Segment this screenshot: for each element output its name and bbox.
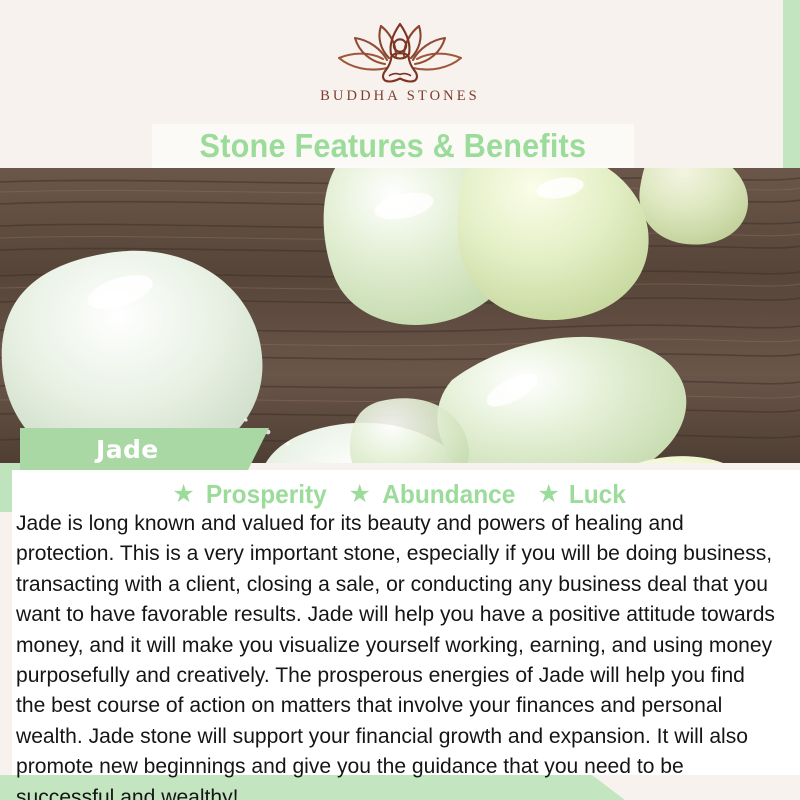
poster-root: BUDDHA STONES Stone Features & Benefits	[0, 0, 800, 800]
stone-photo	[0, 168, 800, 463]
benefit-item: ★ Prosperity	[172, 479, 330, 510]
stone-photo-illustration	[0, 168, 800, 463]
benefit-label: Abundance	[382, 479, 515, 510]
star-icon: ★	[172, 482, 194, 507]
benefit-label: Prosperity	[206, 479, 327, 510]
brand-logo: BUDDHA STONES	[0, 18, 800, 105]
star-icon: ★	[348, 482, 370, 507]
benefits-row: ★ Prosperity ★ Abundance ★ Luck	[0, 478, 800, 510]
header-title-band: Stone Features & Benefits	[152, 124, 634, 168]
chip-angled-corner	[248, 428, 269, 470]
star-icon: ★	[537, 482, 559, 507]
page-title: Stone Features & Benefits	[200, 127, 587, 165]
benefit-item: ★ Luck	[537, 479, 627, 510]
benefit-label: Luck	[569, 479, 626, 510]
stone-description: Jade is long known and valued for its be…	[16, 508, 776, 800]
brand-wordmark: BUDDHA STONES	[320, 88, 480, 105]
benefit-item: ★ Abundance	[348, 479, 519, 510]
lotus-meditation-icon	[325, 18, 475, 84]
stone-name-chip: Jade	[20, 428, 248, 470]
stone-name-label: Jade	[96, 435, 159, 464]
